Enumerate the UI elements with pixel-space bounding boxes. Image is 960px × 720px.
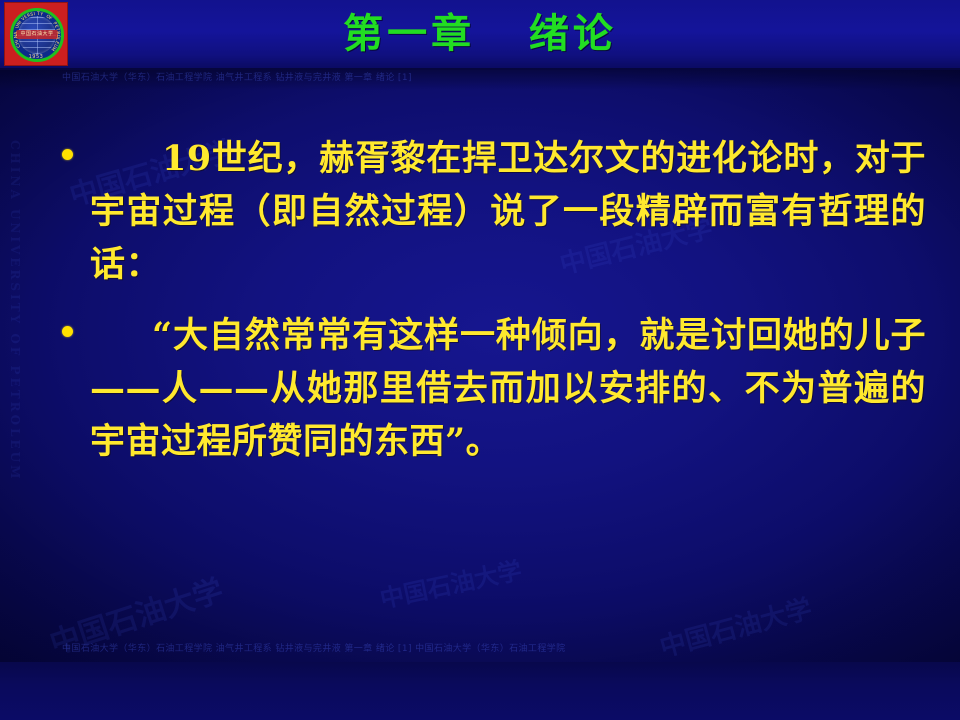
paragraph-text: 19世纪，赫胥黎在捍卫达尔文的进化论时，对于宇宙过程（即自然过程）说了一段精辟而… [90,132,926,291]
page-title: 第一章 绪论 [0,4,960,64]
watermark-bottom-line: 中国石油大学（华东）石油工程学院 油气井工程系 钻井液与完井液 第一章 绪论 [… [62,641,902,654]
slide-body: 19世纪，赫胥黎在捍卫达尔文的进化论时，对于宇宙过程（即自然过程）说了一段精辟而… [46,132,926,486]
bullet-dot-icon [62,326,73,337]
bullet-marker [46,309,90,337]
watermark-side-text: CHINA UNIVERSITY OF PETROLEUM [8,140,22,481]
slide-canvas: 中国石油大学 中国石油大学 中国石油大学 中国石油大学 中国石油大学 CHINA… [0,0,960,720]
bullet-dot-icon [62,149,73,160]
bullet-marker [46,132,90,160]
paragraph-text: “大自然常常有这样一种倾向，就是讨回她的儿子——人——从她那里借去而加以安排的、… [90,309,926,468]
bullet-paragraph: “大自然常常有这样一种倾向，就是讨回她的儿子——人——从她那里借去而加以安排的、… [46,309,926,468]
bullet-paragraph: 19世纪，赫胥黎在捍卫达尔文的进化论时，对于宇宙过程（即自然过程）说了一段精辟而… [46,132,926,291]
navigation-bar: 上页 下页 返回 回主目录 2020/6/30 43 [0,662,960,720]
watermark-top-line: 中国石油大学（华东）石油工程学院 油气井工程系 钻井液与完井液 第一章 绪论 [… [62,70,902,83]
